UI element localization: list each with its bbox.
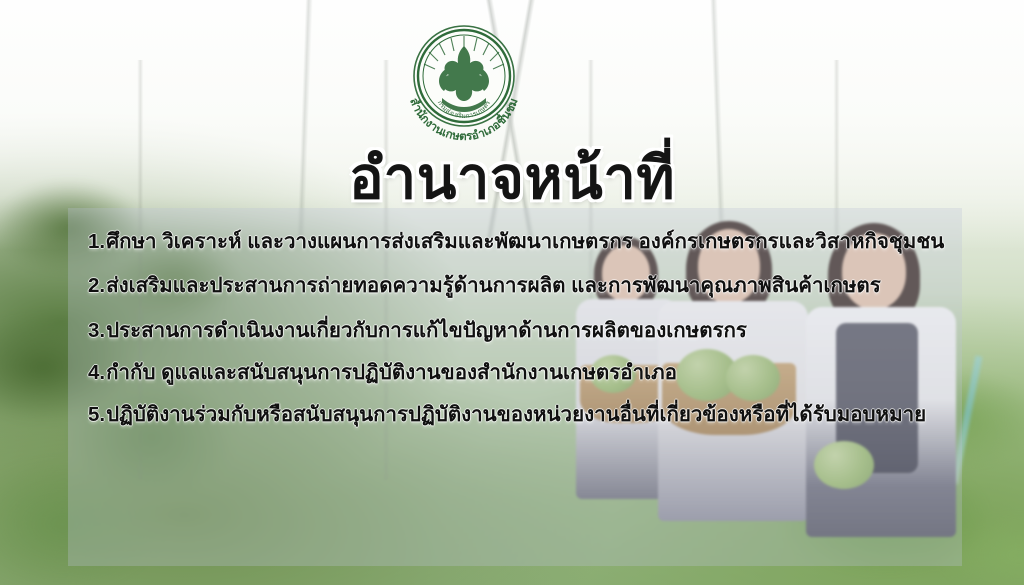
agency-seal: กรมส่งเสริมการเกษตร สำนักงานเกษตรอำเภอชื… [400,16,528,144]
list-item: 2. ส่งเสริมและประสานการถ่ายทอดความรู้ด้า… [88,272,950,300]
list-item-text: ปฏิบัติงานร่วมกับหรือสนับสนุนการปฏิบัติง… [106,401,950,429]
page-title: อำนาจหน้าที่ [0,150,1024,208]
slide-canvas: กรมส่งเสริมการเกษตร สำนักงานเกษตรอำเภอชื… [0,0,1024,585]
list-item-number: 2. [88,272,106,300]
list-item-text: กำกับ ดูแลและสนับสนุนการปฏิบัติงานของสำน… [106,359,950,387]
list-item: 3. ประสานการดำเนินงานเกี่ยวกับการแก้ไขปั… [88,317,950,345]
list-item-text: ศึกษา วิเคราะห์ และวางแผนการส่งเสริมและพ… [106,228,950,256]
list-item-number: 4. [88,359,106,387]
list-item-text: ประสานการดำเนินงานเกี่ยวกับการแก้ไขปัญหา… [106,317,950,345]
list-item: 4. กำกับ ดูแลและสนับสนุนการปฏิบัติงานของ… [88,359,950,387]
duties-list: 1. ศึกษา วิเคราะห์ และวางแผนการส่งเสริมแ… [88,228,950,443]
list-item-number: 1. [88,228,106,256]
list-item-text: ส่งเสริมและประสานการถ่ายทอดความรู้ด้านกา… [106,272,950,300]
list-item-number: 5. [88,401,106,429]
list-item-number: 3. [88,317,106,345]
list-item: 5. ปฏิบัติงานร่วมกับหรือสนับสนุนการปฏิบั… [88,401,950,429]
list-item: 1. ศึกษา วิเคราะห์ และวางแผนการส่งเสริมแ… [88,228,950,256]
